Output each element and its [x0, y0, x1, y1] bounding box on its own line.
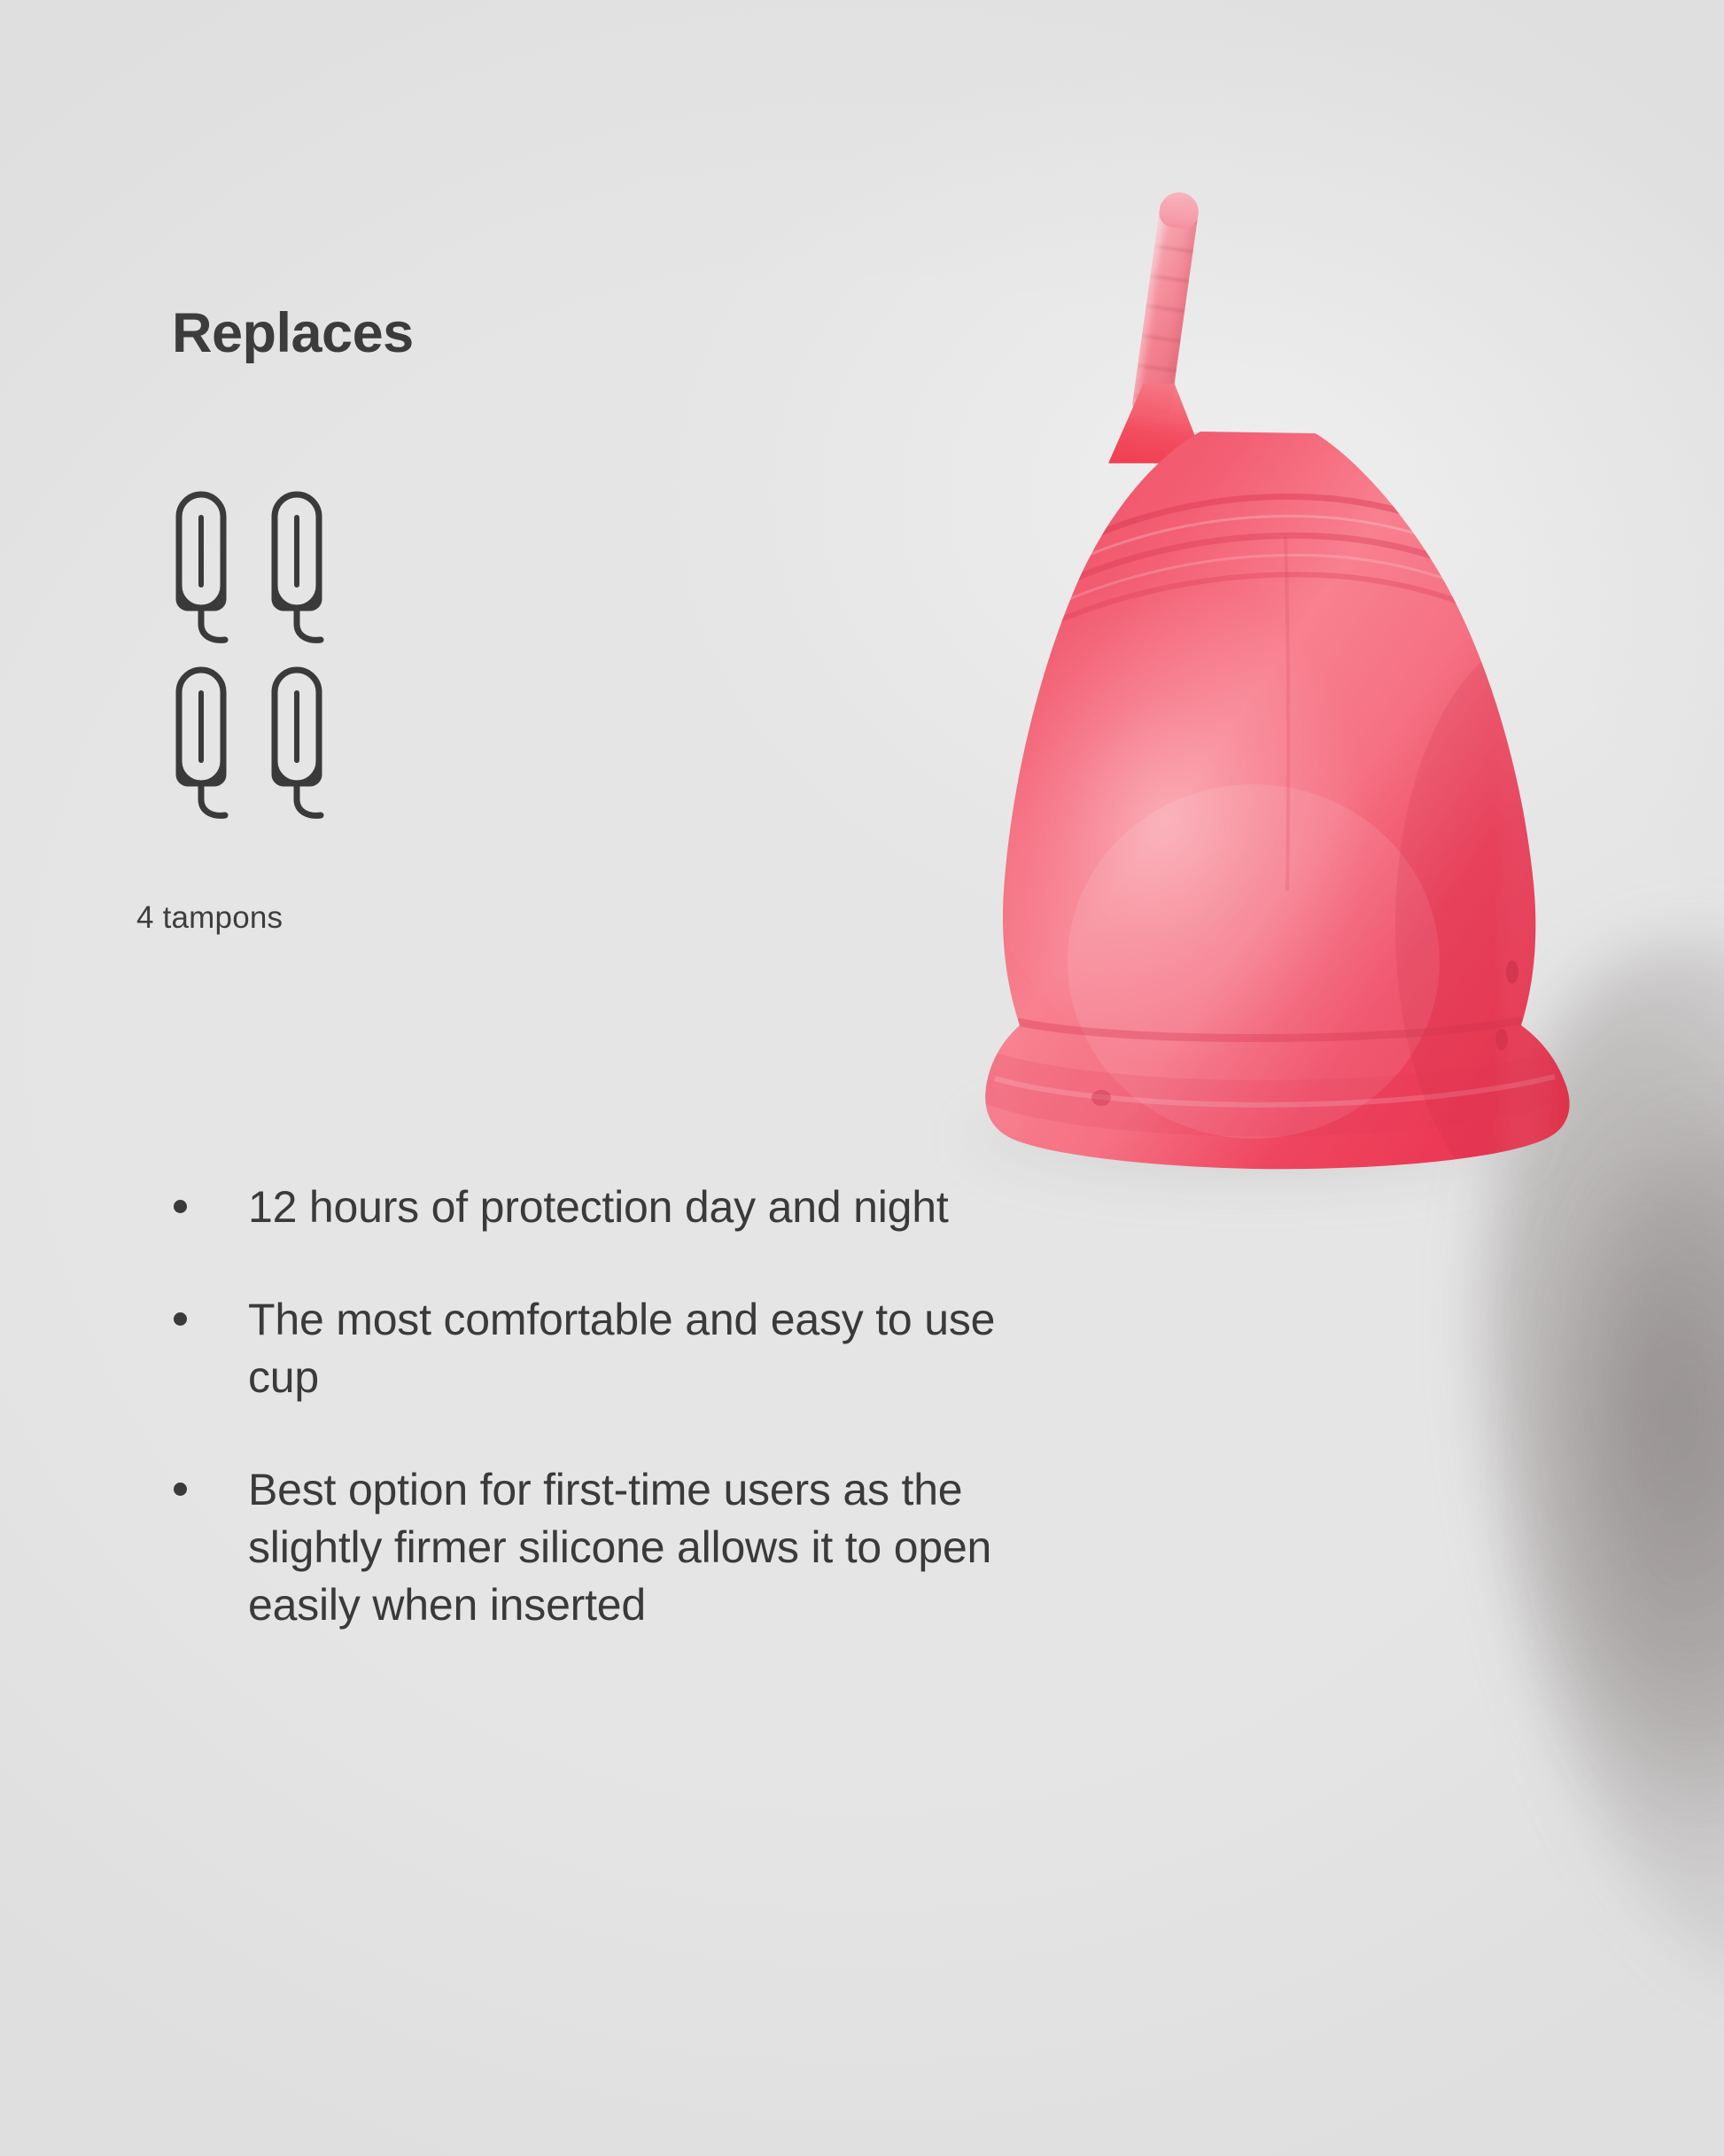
tampon-icon [174, 665, 246, 820]
cup-body [935, 430, 1590, 1174]
bullet-dot-icon [174, 1483, 187, 1496]
list-item: The most comfortable and easy to use cup [174, 1291, 1042, 1406]
list-item: 12 hours of protection day and night [174, 1179, 1042, 1236]
cup-stem-tip [1157, 190, 1200, 230]
cup-body-svg [935, 430, 1590, 1174]
page-title: Replaces [172, 306, 414, 362]
tampon-icon-row [174, 489, 342, 644]
menstrual-cup-image [935, 191, 1590, 1174]
benefit-text: Best option for first-time users as the … [248, 1461, 1010, 1634]
tampon-icon [269, 665, 342, 820]
list-item: Best option for first-time users as the … [174, 1461, 1042, 1634]
tampon-count-label: 4 tampons [136, 900, 283, 936]
bullet-dot-icon [174, 1312, 187, 1326]
tampon-icon [269, 489, 342, 644]
info-column: Replaces [0, 0, 886, 2156]
tampon-icon-grid [174, 489, 342, 820]
benefit-text: The most comfortable and easy to use cup [248, 1291, 1010, 1406]
tampon-icon-row [174, 665, 342, 820]
bullet-dot-icon [174, 1200, 187, 1213]
cup-stem [1131, 190, 1200, 415]
tampon-icon [174, 489, 246, 644]
benefits-list: 12 hours of protection day and night The… [174, 1179, 1042, 1634]
benefit-text: 12 hours of protection day and night [248, 1179, 949, 1236]
